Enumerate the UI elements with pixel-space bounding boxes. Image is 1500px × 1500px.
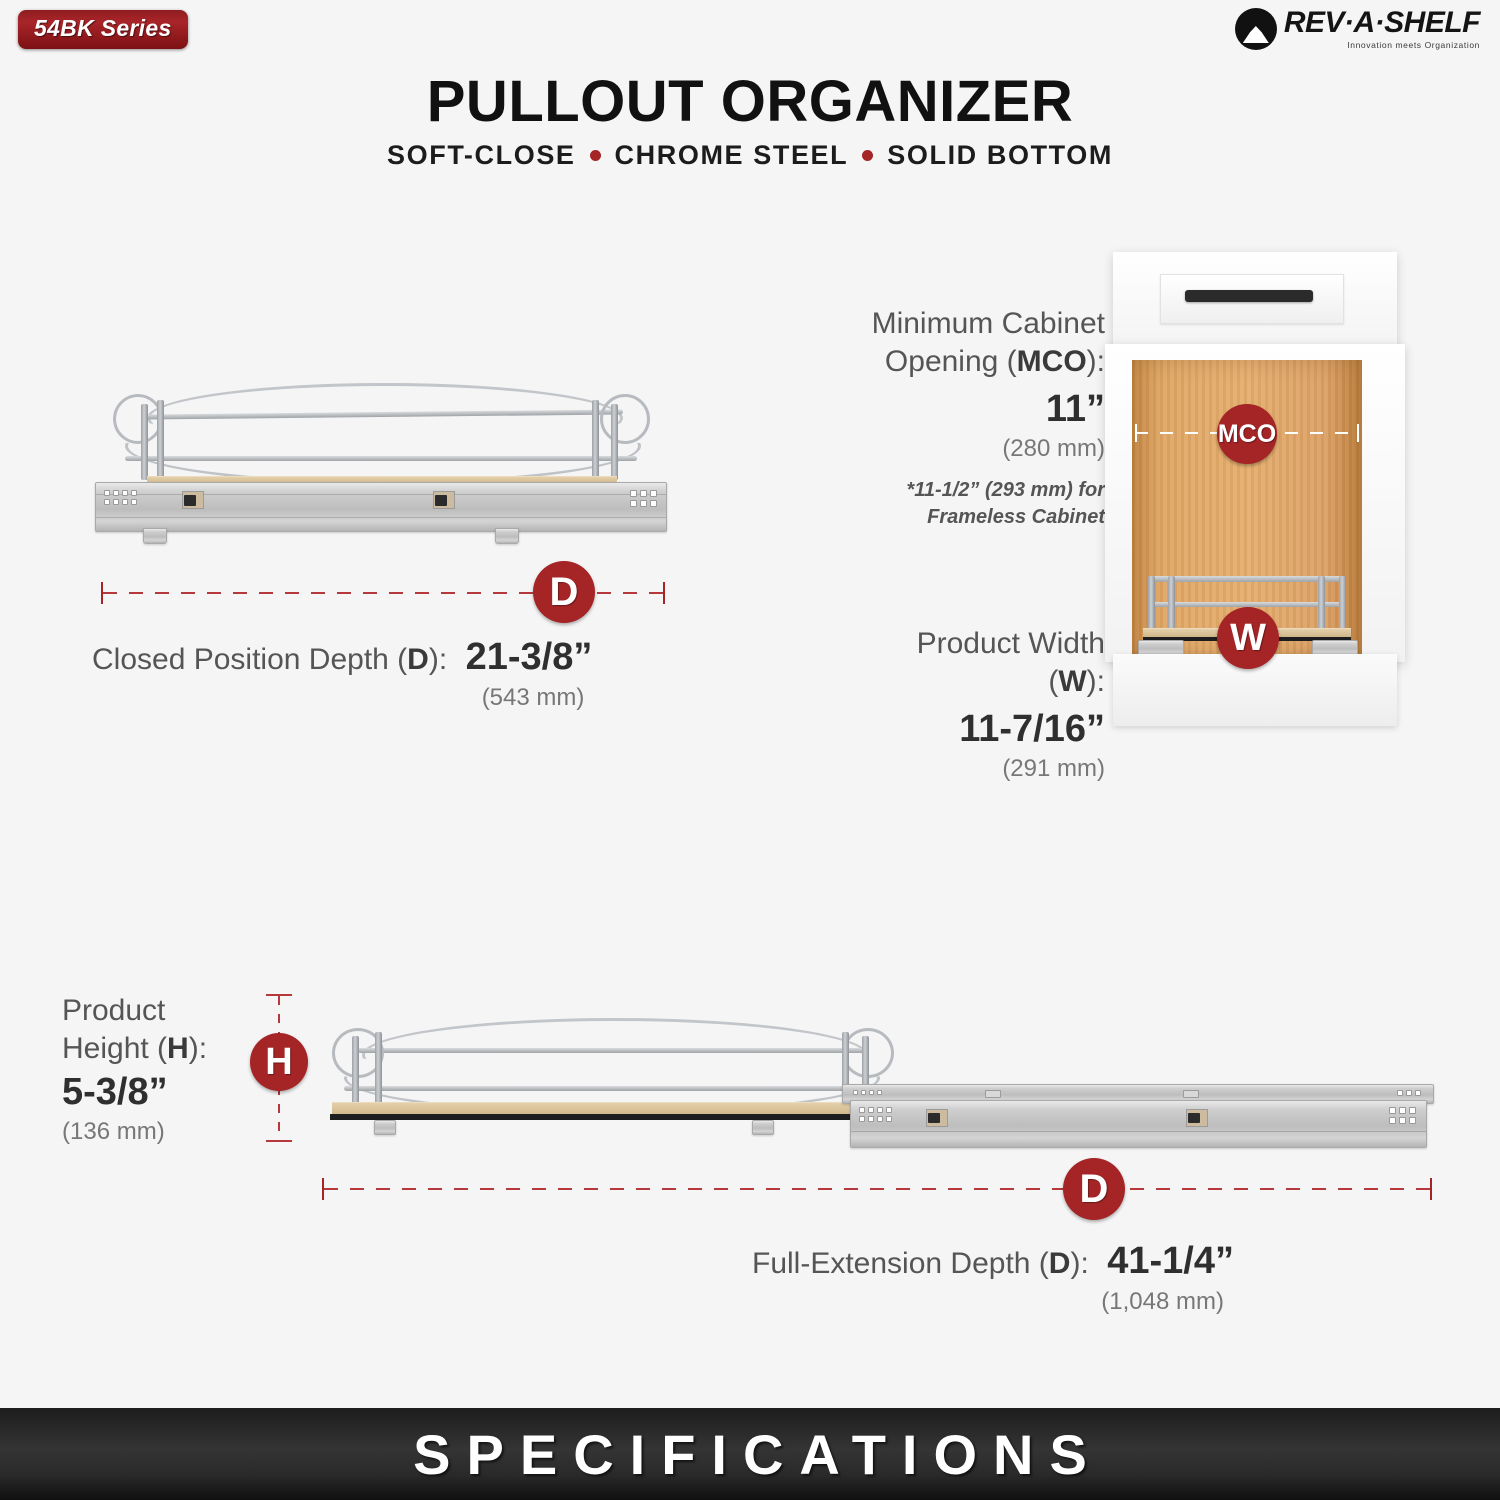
rail-perforations (859, 1107, 892, 1122)
rail-mount-bracket (374, 1120, 396, 1135)
subtitle-part-1: SOFT-CLOSE (387, 140, 576, 171)
page-title: PULLOUT ORGANIZER (0, 68, 1500, 135)
chrome-wire-rail-lower (344, 1086, 876, 1091)
full-extension-label: Full-Extension Depth (D): (752, 1247, 1089, 1280)
brand-name: REV·A·SHELF (1284, 8, 1480, 38)
closed-depth-caption: Closed Position Depth (D): 21-3/8” (543 … (92, 636, 592, 711)
mco-spec-block: Minimum Cabinet Opening (MCO): 11” (280 … (800, 305, 1105, 531)
rail-fitting-chip (184, 495, 196, 506)
height-tick-top (266, 994, 292, 996)
basket-post (141, 404, 148, 480)
rail-fitting-chip (928, 1113, 940, 1123)
extended-slide-rail-lower (850, 1100, 1427, 1148)
mco-label-line2: Opening (MCO): (800, 343, 1105, 381)
basket-top-rail (1148, 576, 1346, 582)
basket-post (375, 1032, 382, 1112)
footer-title: SPECIFICATIONS (397, 1422, 1103, 1487)
dimension-tick-right (663, 582, 665, 604)
closed-depth-metric: (543 mm) (92, 685, 592, 712)
badge-depth-d: D (533, 561, 595, 623)
basket-side-post (1168, 576, 1175, 632)
rev-a-shelf-logo-icon (1235, 8, 1277, 50)
basket-side-post (1339, 576, 1346, 632)
soft-close-slide-rail (95, 482, 667, 532)
rail-mount-bracket (495, 528, 519, 544)
cabinet-illustration: MCO W (1105, 252, 1405, 922)
rail-fitting-chip (1188, 1113, 1200, 1123)
badge-label: W (1230, 617, 1266, 660)
basket-post (611, 404, 618, 480)
basket-post (352, 1036, 359, 1112)
rail-mount-bracket (752, 1120, 774, 1135)
product-width-spec-block: Product Width (W): 11-7/16” (291 mm) (840, 625, 1105, 783)
closed-depth-value: 21-3/8” (466, 636, 593, 678)
basket-post (157, 400, 164, 480)
basket-post (592, 400, 599, 480)
product-height-spec-block: Product Height (H): 5-3/8” (136 mm) (62, 992, 262, 1146)
rail-perforations (1389, 1107, 1416, 1124)
rail-perforations (104, 490, 137, 505)
basket-side-post (1318, 576, 1325, 632)
wire-end-hook-left-icon (113, 394, 163, 444)
page-subtitle: SOFT-CLOSE CHROME STEEL SOLID BOTTOM (0, 140, 1500, 171)
subtitle-part-2: CHROME STEEL (615, 140, 849, 171)
rail-mount-bracket (143, 528, 167, 544)
mco-metric: (280 mm) (800, 435, 1105, 463)
mco-note-line1: *11-1/2” (293 mm) for (800, 477, 1105, 504)
badge-height-h: H (250, 1033, 308, 1091)
specifications-footer: SPECIFICATIONS (0, 1408, 1500, 1500)
badge-width-w: W (1217, 607, 1279, 669)
wire-end-hook-right-icon (600, 394, 650, 444)
badge-label: H (265, 1041, 292, 1084)
product-width-metric: (291 mm) (840, 755, 1105, 783)
subtitle-part-3: SOLID BOTTOM (887, 140, 1113, 171)
solid-bottom-edge (330, 1114, 875, 1120)
chrome-wire-rail (358, 1048, 866, 1053)
badge-label: D (1080, 1167, 1109, 1212)
basket-side-post (1148, 576, 1155, 632)
full-extension-product-image (322, 1010, 1432, 1150)
full-extension-value: 41-1/4” (1107, 1240, 1234, 1282)
rail-perforations (630, 490, 657, 507)
rail-fitting-chip (1183, 1090, 1199, 1098)
mco-label-line1: Minimum Cabinet (800, 305, 1105, 343)
height-tick-bottom (266, 1140, 292, 1142)
mco-value: 11” (800, 388, 1105, 431)
series-badge: 54BK Series (18, 10, 188, 49)
badge-full-extension-d: D (1063, 1158, 1125, 1220)
full-extension-dimension-line (324, 1188, 1430, 1190)
drawer-handle-icon (1185, 290, 1313, 302)
full-extension-metric: (1,048 mm) (752, 1289, 1234, 1316)
brand-tagline: Innovation meets Organization (1284, 41, 1480, 50)
badge-label: D (550, 570, 579, 615)
rail-perforations (1397, 1090, 1421, 1096)
rail-fitting-chip (435, 495, 447, 506)
badge-label: MCO (1218, 420, 1276, 449)
separator-dot-icon (862, 150, 873, 161)
product-width-label-line1: Product Width (840, 625, 1105, 663)
product-height-metric: (136 mm) (62, 1118, 262, 1146)
badge-mco: MCO (1217, 404, 1277, 464)
closed-position-product-image (95, 378, 665, 538)
closed-depth-label: Closed Position Depth (D): (92, 643, 447, 676)
product-height-label-line1: Product (62, 992, 262, 1030)
dimension-tick-right (1430, 1178, 1432, 1200)
product-width-value: 11-7/16” (840, 708, 1105, 751)
dimension-tick-left (101, 582, 103, 604)
product-width-label-line2: (W): (840, 663, 1105, 701)
product-height-label-line2: Height (H): (62, 1030, 262, 1068)
mco-note-line2: Frameless Cabinet (800, 504, 1105, 531)
rail-perforations (853, 1090, 882, 1095)
spec-sheet: 54BK Series REV·A·SHELF Innovation meets… (0, 0, 1500, 1500)
product-height-value: 5-3/8” (62, 1071, 262, 1114)
chrome-wire-rail-lower (125, 456, 637, 461)
brand-logo: REV·A·SHELF Innovation meets Organizatio… (1235, 8, 1480, 50)
dimension-tick-left (322, 1178, 324, 1200)
rail-fitting-chip (985, 1090, 1001, 1098)
full-extension-caption: Full-Extension Depth (D): 41-1/4” (1,048… (752, 1240, 1234, 1315)
separator-dot-icon (590, 150, 601, 161)
